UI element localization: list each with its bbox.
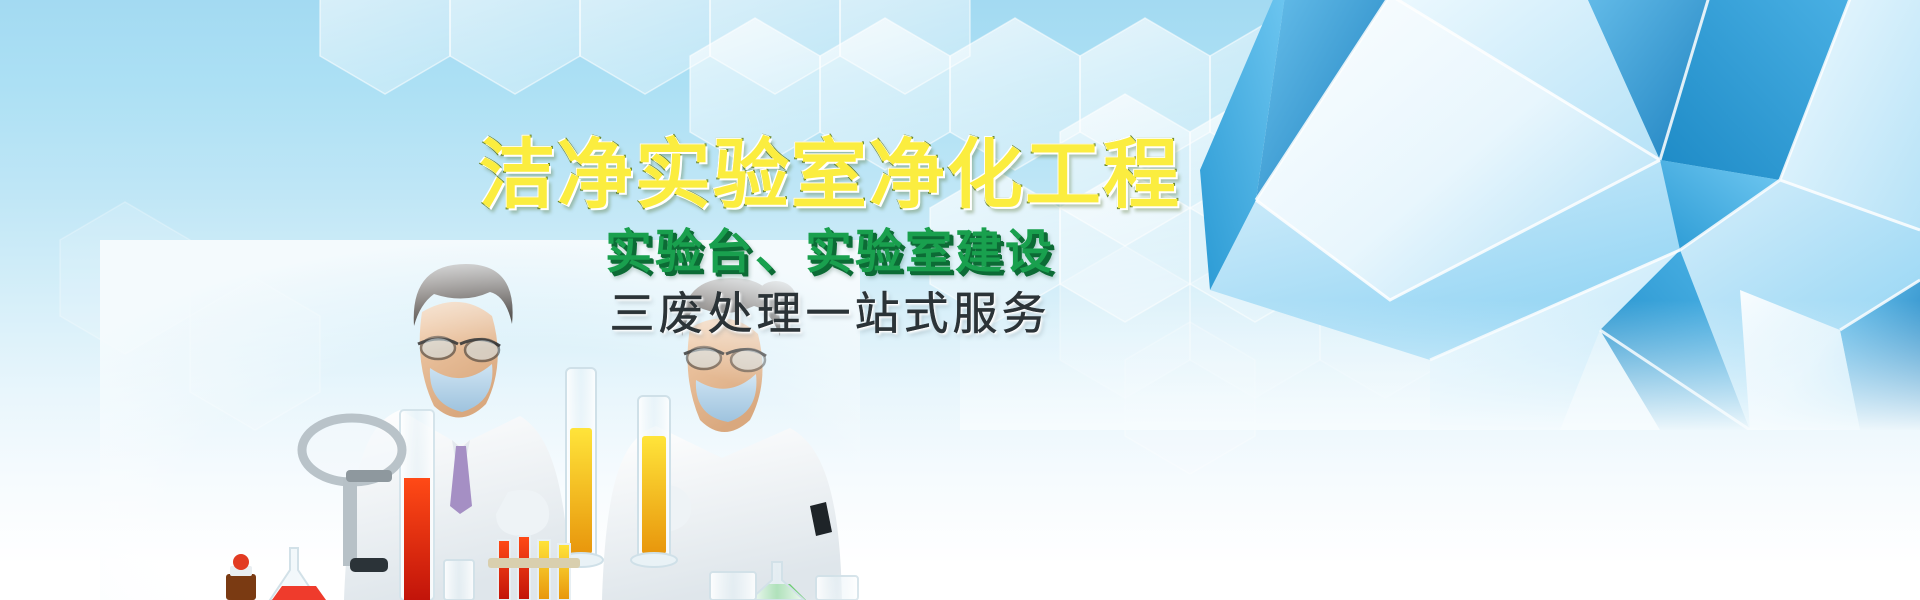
banner-subheadline: 实验台、实验室建设 — [450, 228, 1210, 275]
banner-copy: 洁净实验室净化工程 实验台、实验室建设 三废处理一站式服务 — [450, 138, 1210, 336]
banner-tagline: 三废处理一站式服务 — [450, 291, 1210, 336]
promotional-banner: 洁净实验室净化工程 实验台、实验室建设 三废处理一站式服务 — [0, 0, 1920, 600]
page-title: 洁净实验室净化工程 — [450, 138, 1210, 214]
